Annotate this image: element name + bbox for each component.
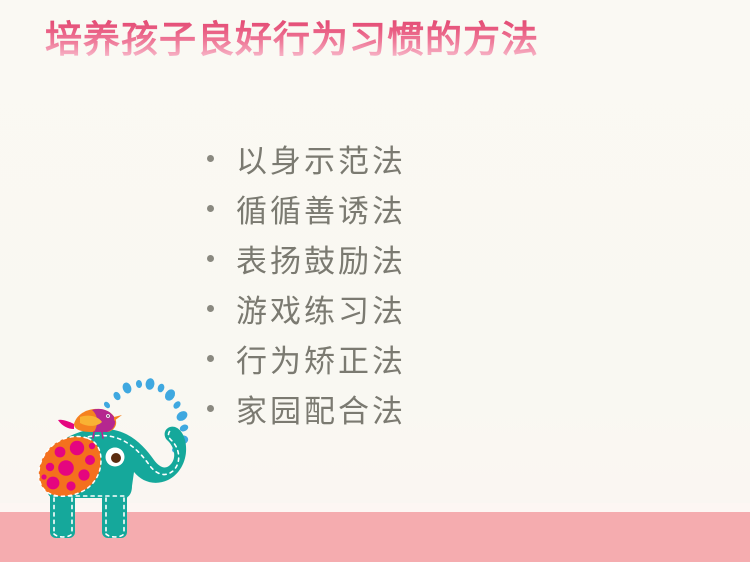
bullet-dot-icon <box>207 205 214 212</box>
bullet-dot-icon <box>207 155 214 162</box>
bullet-dot-icon <box>207 405 214 412</box>
method-list: 以身示范法 循循善诱法 表扬鼓励法 游戏练习法 行为矫正法 家园配合法 <box>207 133 406 433</box>
list-item: 以身示范法 <box>207 133 406 183</box>
list-item: 行为矫正法 <box>207 333 406 383</box>
bullet-dot-icon <box>207 305 214 312</box>
list-item-label: 游戏练习法 <box>236 286 406 331</box>
slide-canvas: 培养孩子良好行为习惯的方法 以身示范法 循循善诱法 表扬鼓励法 游戏练习法 行为… <box>0 0 750 562</box>
page-title: 培养孩子良好行为习惯的方法 <box>45 16 539 62</box>
elephant-eye-icon <box>106 448 125 467</box>
bullet-dot-icon <box>207 355 214 362</box>
list-item-label: 表扬鼓励法 <box>236 236 406 281</box>
list-item: 家园配合法 <box>207 383 406 433</box>
list-item: 循循善诱法 <box>207 183 406 233</box>
list-item-label: 以身示范法 <box>236 136 406 181</box>
list-item-label: 家园配合法 <box>236 386 406 431</box>
list-item-label: 行为矫正法 <box>236 336 406 381</box>
list-item: 游戏练习法 <box>207 283 406 333</box>
list-item-label: 循循善诱法 <box>236 186 406 231</box>
bullet-dot-icon <box>207 255 214 262</box>
elephant-illustration <box>14 372 204 544</box>
list-item: 表扬鼓励法 <box>207 233 406 283</box>
